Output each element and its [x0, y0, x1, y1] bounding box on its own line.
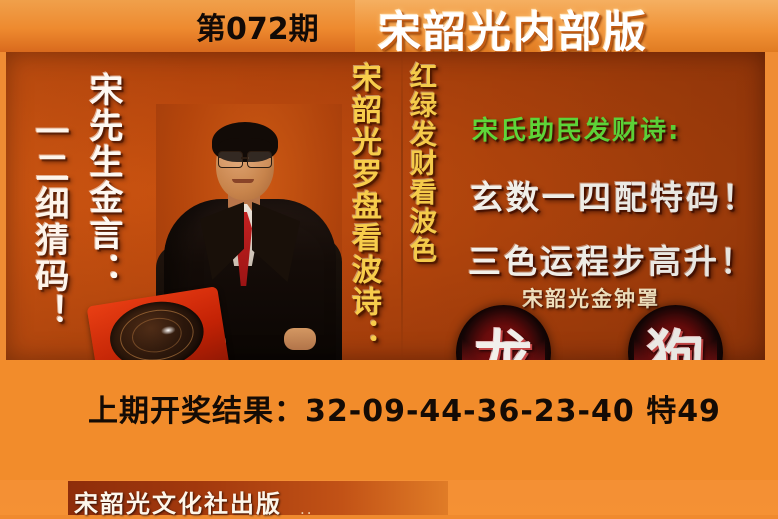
portrait-mouth: [232, 179, 254, 183]
footer-dots: ..: [300, 500, 314, 518]
artwork-panel: 宋先生金言： 一二细猜码！: [6, 52, 765, 360]
issue-number: 第072期: [196, 4, 319, 48]
previous-draw-result: 上期开奖结果：32-09-44-36-23-40 特49: [88, 386, 721, 430]
poem-line-1: 玄数一四配特码！: [470, 171, 758, 219]
poster-header: 第072期 宋韶光内部版: [0, 0, 778, 52]
zodiac-dragon-badge: 龙: [456, 305, 551, 360]
publisher-name: 宋韶光文化社出版: [74, 484, 282, 519]
luopan-compass: [87, 286, 230, 360]
vertical-text-luopan-kan-bo-shi: 宋韶光罗盘看波诗：: [348, 62, 378, 350]
lottery-poster: 第072期 宋韶光内部版 宋先生金言： 一二细猜码！: [0, 0, 778, 515]
portrait-eyeglasses: [216, 151, 274, 167]
zodiac-dog-char: 狗: [628, 305, 723, 360]
zodiac-dragon-char: 龙: [456, 305, 551, 360]
portrait-hand-right: [284, 328, 316, 350]
zodiac-dog-badge: 狗: [628, 305, 723, 360]
vertical-text-song-xiansheng-jinyan: 宋先生金言：: [86, 72, 120, 288]
poem-heading: 宋氏助民发财诗:: [472, 110, 680, 147]
previous-draw-strip: 上期开奖结果：32-09-44-36-23-40 特49: [0, 360, 778, 480]
panel-divider: [401, 52, 403, 360]
brand-title: 宋韶光内部版: [378, 0, 648, 52]
vertical-text-honglv-facai-kan-bose: 红绿发财看波色: [407, 62, 434, 265]
vertical-text-yi-er-xi-cai-ma: 一二细猜码！: [32, 114, 66, 330]
poem-line-2: 三色运程步高升！: [468, 235, 756, 283]
